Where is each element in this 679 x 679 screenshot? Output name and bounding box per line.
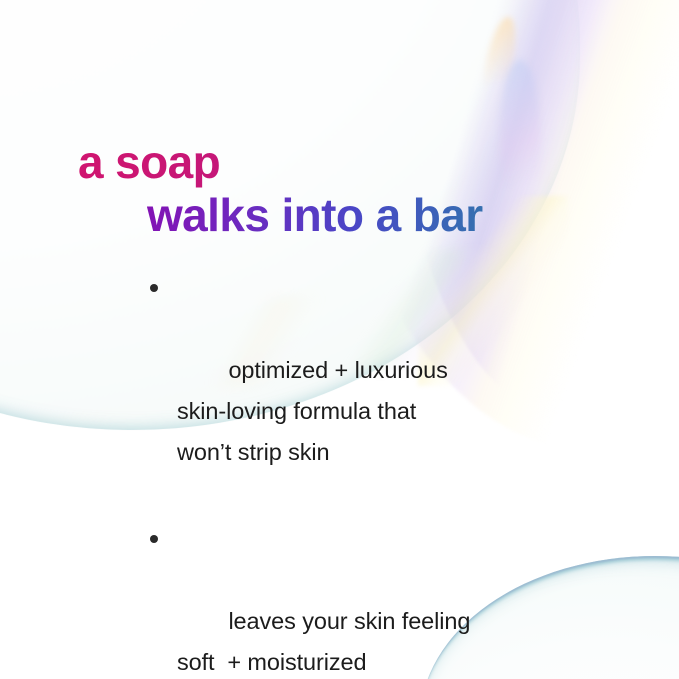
benefits-list: optimized + luxurious skin-loving formul… xyxy=(145,268,565,679)
list-item-text: optimized + luxurious skin-loving formul… xyxy=(177,357,448,465)
headline: a soap walks into a bar xyxy=(78,136,618,242)
poster-canvas: a soap walks into a bar optimized + luxu… xyxy=(0,0,679,679)
headline-line-1: a soap xyxy=(78,136,618,189)
headline-line-2: walks into a bar xyxy=(147,189,618,242)
bullet-dot-icon xyxy=(150,284,158,292)
list-item-text: leaves your skin feeling soft + moisturi… xyxy=(177,608,470,675)
list-item: leaves your skin feeling soft + moisturi… xyxy=(145,519,565,679)
poster-content: a soap walks into a bar optimized + luxu… xyxy=(0,0,679,679)
bullet-dot-icon xyxy=(150,535,158,543)
list-item: optimized + luxurious skin-loving formul… xyxy=(145,268,565,514)
